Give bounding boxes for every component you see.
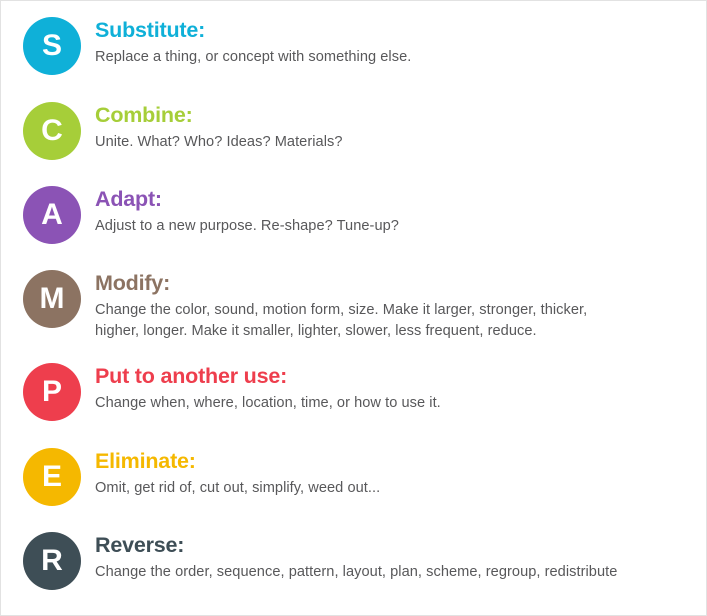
scamper-item-content: Modify:Change the color, sound, motion f… [81, 270, 706, 342]
scamper-item-description: Change the color, sound, motion form, si… [95, 300, 695, 342]
letter-badge-icon: M [23, 270, 81, 328]
scamper-item-heading: Eliminate: [95, 448, 706, 474]
scamper-item-content: Adapt:Adjust to a new purpose. Re-shape?… [81, 186, 706, 237]
scamper-item-content: Substitute:Replace a thing, or concept w… [81, 17, 706, 68]
letter-badge-icon: E [23, 448, 81, 506]
description-line: Adjust to a new purpose. Re-shape? Tune-… [95, 216, 695, 237]
scamper-item-heading: Substitute: [95, 17, 706, 43]
description-line: Change the color, sound, motion form, si… [95, 300, 695, 321]
scamper-item-heading: Modify: [95, 270, 706, 296]
description-line: Replace a thing, or concept with somethi… [95, 47, 695, 68]
letter-badge-icon: S [23, 17, 81, 75]
scamper-item-description: Replace a thing, or concept with somethi… [95, 47, 695, 68]
scamper-item-content: Put to another use:Change when, where, l… [81, 363, 706, 414]
scamper-item-description: Change the order, sequence, pattern, lay… [95, 562, 695, 583]
scamper-item-description: Unite. What? Who? Ideas? Materials? [95, 132, 695, 153]
scamper-item-content: Reverse:Change the order, sequence, patt… [81, 532, 706, 583]
description-line: higher, longer. Make it smaller, lighter… [95, 321, 695, 342]
scamper-item: CCombine:Unite. What? Who? Ideas? Materi… [1, 102, 706, 160]
scamper-item-heading: Put to another use: [95, 363, 706, 389]
description-line: Change when, where, location, time, or h… [95, 393, 695, 414]
letter-badge-icon: C [23, 102, 81, 160]
scamper-item-heading: Reverse: [95, 532, 706, 558]
scamper-item: AAdapt:Adjust to a new purpose. Re-shape… [1, 186, 706, 244]
scamper-item: EEliminate:Omit, get rid of, cut out, si… [1, 448, 706, 506]
scamper-item-heading: Adapt: [95, 186, 706, 212]
description-line: Change the order, sequence, pattern, lay… [95, 562, 695, 583]
letter-badge-icon: A [23, 186, 81, 244]
scamper-item-description: Adjust to a new purpose. Re-shape? Tune-… [95, 216, 695, 237]
scamper-item: PPut to another use:Change when, where, … [1, 363, 706, 421]
scamper-item-description: Omit, get rid of, cut out, simplify, wee… [95, 478, 695, 499]
scamper-item-content: Combine:Unite. What? Who? Ideas? Materia… [81, 102, 706, 153]
scamper-item-description: Change when, where, location, time, or h… [95, 393, 695, 414]
letter-badge-icon: P [23, 363, 81, 421]
description-line: Unite. What? Who? Ideas? Materials? [95, 132, 695, 153]
letter-badge-icon: R [23, 532, 81, 590]
description-line: Omit, get rid of, cut out, simplify, wee… [95, 478, 695, 499]
scamper-item: MModify:Change the color, sound, motion … [1, 270, 706, 342]
scamper-item-heading: Combine: [95, 102, 706, 128]
scamper-diagram: SSubstitute:Replace a thing, or concept … [0, 0, 707, 616]
scamper-item-content: Eliminate:Omit, get rid of, cut out, sim… [81, 448, 706, 499]
scamper-item: SSubstitute:Replace a thing, or concept … [1, 17, 706, 75]
scamper-item: RReverse:Change the order, sequence, pat… [1, 532, 706, 590]
